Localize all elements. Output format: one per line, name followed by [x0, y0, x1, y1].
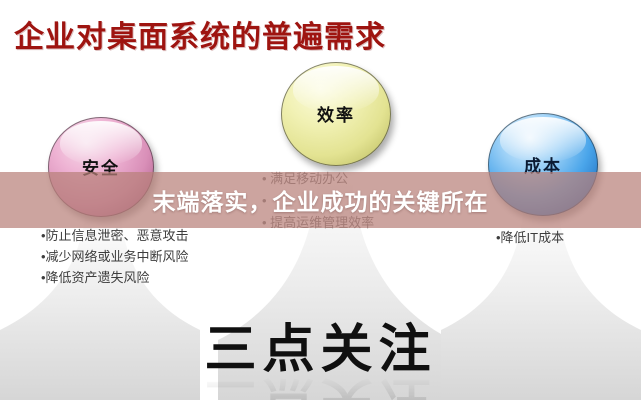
- bullet-list-security: •防止信息泄密、恶意攻击 •减少网络或业务中断风险 •降低资产遗失风险: [41, 225, 189, 288]
- bullet-list-cost: •降低IT成本: [496, 227, 564, 248]
- bullet-item: •防止信息泄密、恶意攻击: [41, 225, 189, 246]
- slide-canvas: 企业对桌面系统的普遍需求 效率 安全 成本 • 满足移动办公 • • 提高运维管…: [0, 0, 641, 400]
- bullet-item: •减少网络或业务中断风险: [41, 246, 189, 267]
- headline-text: 三点关注: [0, 322, 641, 378]
- sphere-efficiency-label: 效率: [281, 101, 391, 126]
- headline-reflection: 三点关注: [0, 372, 641, 400]
- bullet-item: •降低IT成本: [496, 227, 564, 248]
- headline-block: 三点关注 三点关注: [0, 322, 641, 400]
- overlay-banner-text: 末端落实，企业成功的关键所在: [0, 172, 641, 228]
- bullet-item: •降低资产遗失风险: [41, 267, 189, 288]
- sphere-efficiency[interactable]: 效率: [281, 62, 391, 166]
- page-title: 企业对桌面系统的普遍需求: [14, 12, 386, 56]
